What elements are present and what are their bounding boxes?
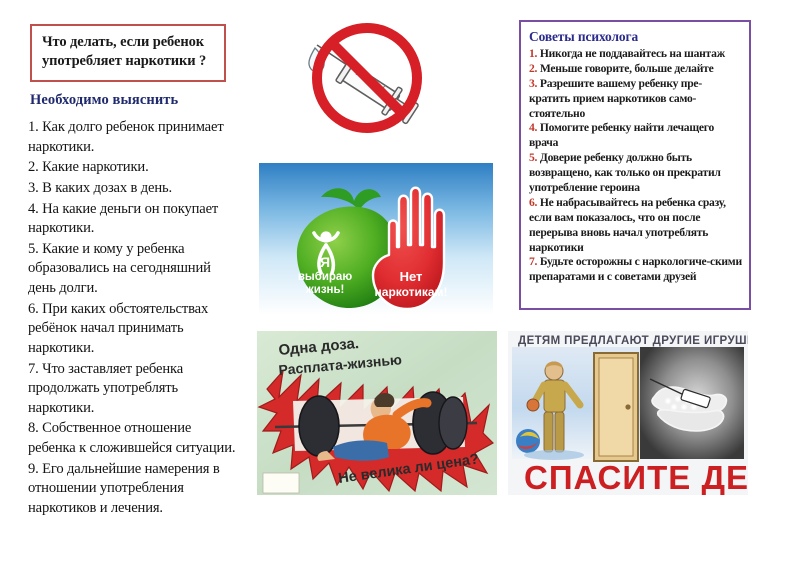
advice-item-number: 6. (529, 196, 537, 209)
advice-item-number: 1. (529, 47, 537, 60)
advice-panel-title: Советы психолога (529, 29, 743, 45)
list-item: 2. Какие наркотики. (28, 158, 242, 178)
poster-weightlifter: Одна доза. Расплата-жизнью Не велика ли … (257, 331, 497, 495)
advice-item: 4. Помогите ребенку найти лечащего врача (529, 121, 743, 151)
advice-item-number: 7. (529, 255, 537, 268)
list-item: 3. В каких дозах в день. (28, 179, 242, 199)
question-list: 1. Как долго ребенок принимает наркотики… (28, 118, 242, 520)
advice-item: 5. Доверие ребенку должно быть возвращен… (529, 151, 743, 196)
advice-item: 7. Будьте осторожны с наркологиче-скими … (529, 255, 743, 285)
advice-item-text: Никогда не поддавайтесь на шантаж (540, 47, 725, 60)
advice-item: 2. Меньше говорите, больше делайте (529, 62, 743, 77)
list-item: 8. Собственное отношение ребенка к сложи… (28, 419, 242, 458)
advice-item-text: Помогите ребенку найти лечащего врача (529, 121, 714, 149)
advice-item-text: Будьте осторожны с наркологиче-скими пре… (529, 255, 742, 283)
poster-right-text-bottom: СПАСИТЕ ДЕТЕЙ! (524, 458, 748, 495)
poster-save-children: ДЕТЯМ ПРЕДЛАГАЮТ ДРУГИЕ ИГРУШКИ СПАСИТЕ … (508, 331, 748, 495)
apple-hand-image: Я выбираю жизнь! Нет наркотикам! (259, 163, 493, 315)
poster-page: Что делать, если ребенок употребляет нар… (0, 0, 800, 565)
advice-item-text: Меньше говорите, больше делайте (540, 62, 714, 75)
title-line-2: употребляет наркотики ? (42, 52, 216, 71)
hand-text-line-2: наркотикам! (375, 285, 448, 299)
title-line-1: Что делать, если ребенок (42, 33, 216, 52)
advice-item-number: 3. (529, 77, 537, 90)
list-item: 6. При каких обстоятельствах ребёнок нач… (28, 300, 242, 359)
advice-item-text: Доверие ребенку должно быть возвращено, … (529, 151, 721, 194)
subheading: Необходимо выяснить (30, 92, 178, 109)
list-item: 1. Как долго ребенок принимает наркотики… (28, 118, 242, 157)
advice-item-text: Не набрасывайтесь на ребенка сразу, если… (529, 196, 726, 254)
advice-item-text: Разрешите вашему ребенку пре-кратить при… (529, 77, 702, 120)
list-item: 7. Что заставляет ребенка продолжать упо… (28, 360, 242, 419)
apple-text-line-3: жизнь! (305, 284, 345, 296)
psychologist-advice-panel: Советы психолога 1. Никогда не поддавайт… (519, 20, 751, 310)
list-item: 5. Какие и кому у ребенка образовались н… (28, 240, 242, 299)
advice-item-number: 2. (529, 62, 537, 75)
apple-text-line-2: выбираю (298, 271, 352, 283)
hand-text-line-1: Нет (400, 269, 423, 284)
poster-right-text-top: ДЕТЯМ ПРЕДЛАГАЮТ ДРУГИЕ ИГРУШКИ (518, 335, 748, 347)
title-box: Что делать, если ребенок употребляет нар… (30, 24, 226, 82)
advice-item: 3. Разрешите вашему ребенку пре-кратить … (529, 77, 743, 122)
advice-item-number: 4. (529, 121, 537, 134)
list-item: 9. Его дальнейшие намерения в отношении … (28, 460, 242, 519)
list-item: 4. На какие деньги он покупает наркотики… (28, 200, 242, 239)
no-syringe-icon (295, 18, 435, 148)
apple-text-line-1: Я (320, 254, 330, 270)
advice-item: 6. Не набрасывайтесь на ребенка сразу, е… (529, 196, 743, 256)
advice-item-number: 5. (529, 151, 537, 164)
advice-item: 1. Никогда не поддавайтесь на шантаж (529, 47, 743, 62)
